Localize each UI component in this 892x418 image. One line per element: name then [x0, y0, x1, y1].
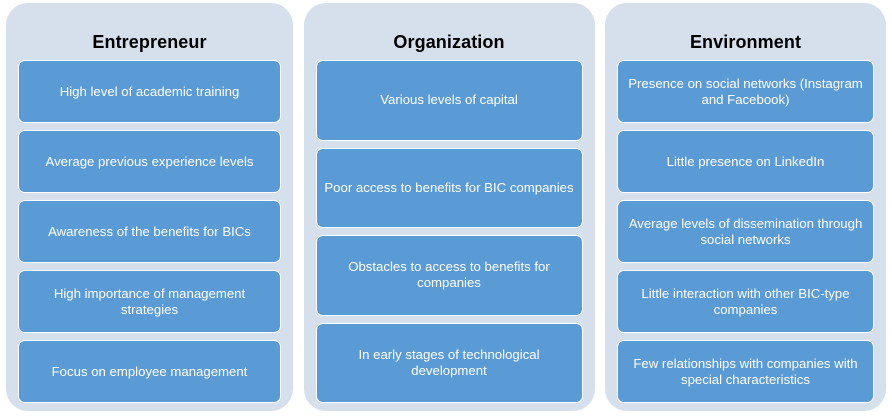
card-item: In early stages of technological develop…: [316, 323, 583, 404]
card-label: High level of academic training: [25, 84, 274, 100]
card-label: Little presence on LinkedIn: [624, 154, 867, 170]
card-label: Various levels of capital: [323, 92, 576, 108]
card-label: Focus on employee management: [25, 364, 274, 380]
card-label: High importance of management strategies: [25, 286, 274, 318]
column-title-environment: Environment: [690, 3, 801, 60]
card-item: Various levels of capital: [316, 60, 583, 141]
column-title-entrepreneur: Entrepreneur: [92, 3, 206, 60]
card-label: Poor access to benefits for BIC companie…: [323, 180, 576, 196]
column-panel-environment: Environment Presence on social networks …: [605, 3, 886, 411]
card-stack-environment: Presence on social networks (Instagram a…: [617, 60, 874, 411]
column-panel-organization: Organization Various levels of capital P…: [304, 3, 595, 411]
column-title-organization: Organization: [393, 3, 504, 60]
card-item: Awareness of the benefits for BICs: [18, 200, 281, 263]
card-item: Average levels of dissemination through …: [617, 200, 874, 263]
card-item: Average previous experience levels: [18, 130, 281, 193]
card-item: Little presence on LinkedIn: [617, 130, 874, 193]
card-item: Few relationships with companies with sp…: [617, 340, 874, 403]
card-item: Presence on social networks (Instagram a…: [617, 60, 874, 123]
card-label: Average previous experience levels: [25, 154, 274, 170]
card-item: Little interaction with other BIC-type c…: [617, 270, 874, 333]
card-stack-entrepreneur: High level of academic training Average …: [18, 60, 281, 411]
card-label: Average levels of dissemination through …: [624, 216, 867, 248]
card-item: Focus on employee management: [18, 340, 281, 403]
card-stack-organization: Various levels of capital Poor access to…: [316, 60, 583, 411]
card-label: Presence on social networks (Instagram a…: [624, 76, 867, 108]
card-item: High level of academic training: [18, 60, 281, 123]
card-label: Little interaction with other BIC-type c…: [624, 286, 867, 318]
card-item: Obstacles to access to benefits for comp…: [316, 235, 583, 316]
card-label: Awareness of the benefits for BICs: [25, 224, 274, 240]
card-label: In early stages of technological develop…: [323, 347, 576, 379]
three-column-diagram: Entrepreneur High level of academic trai…: [0, 0, 892, 418]
card-label: Few relationships with companies with sp…: [624, 356, 867, 388]
card-item: High importance of management strategies: [18, 270, 281, 333]
column-panel-entrepreneur: Entrepreneur High level of academic trai…: [6, 3, 293, 411]
card-label: Obstacles to access to benefits for comp…: [323, 259, 576, 291]
card-item: Poor access to benefits for BIC companie…: [316, 148, 583, 229]
